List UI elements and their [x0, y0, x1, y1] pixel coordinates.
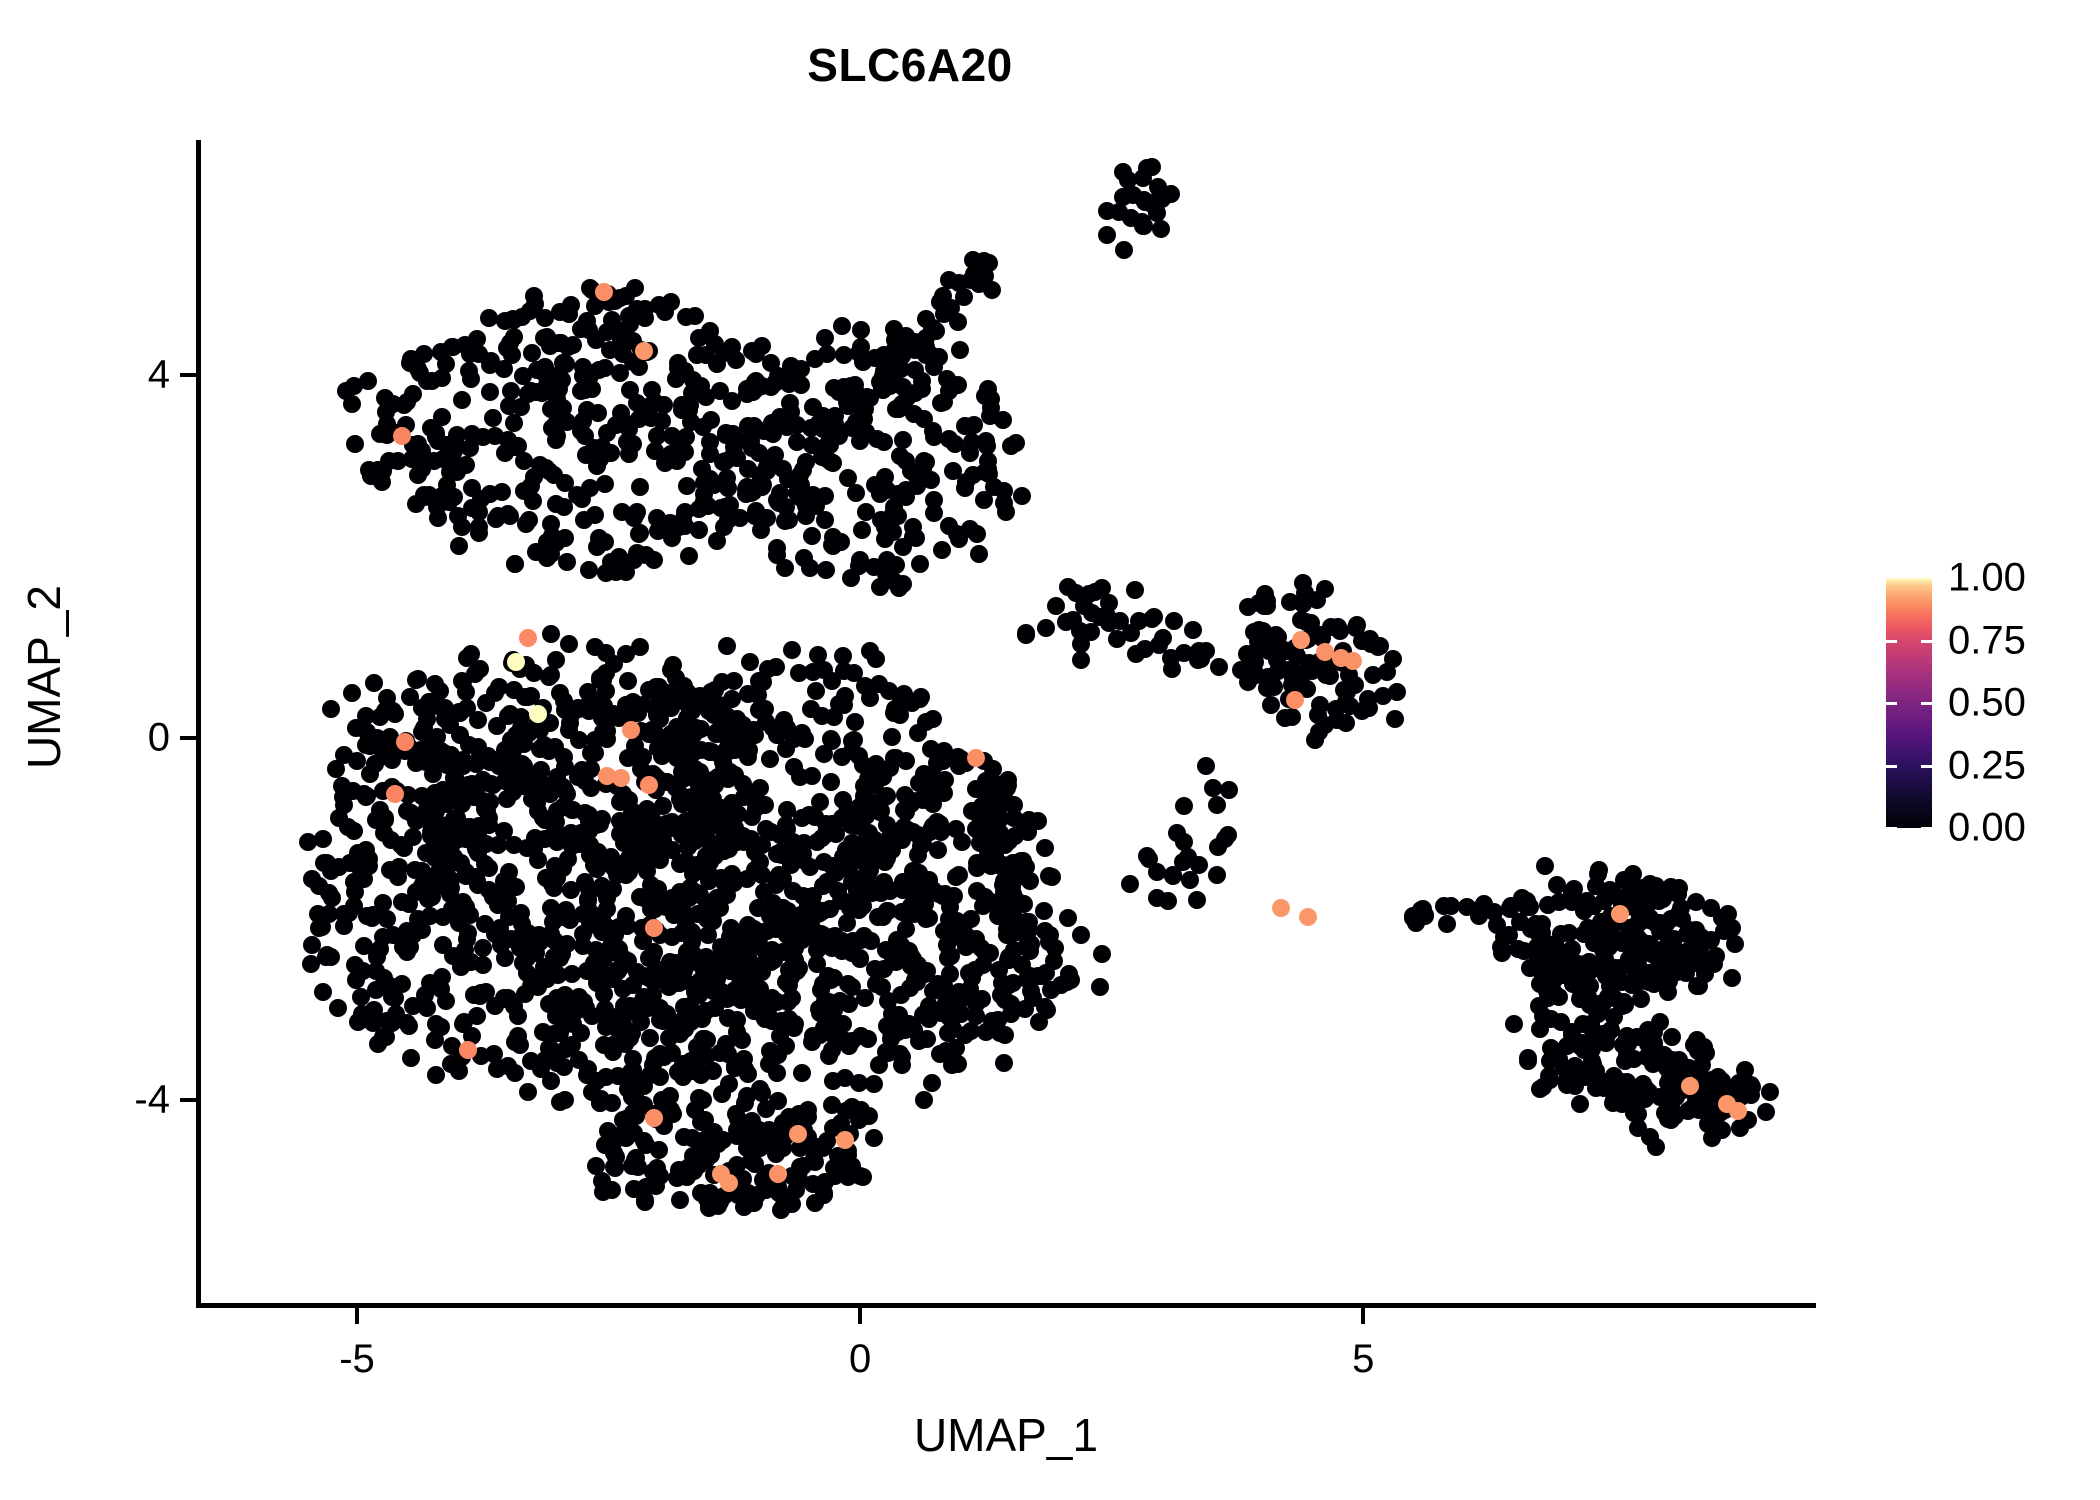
scatter-point — [426, 675, 444, 693]
scatter-point — [651, 1045, 669, 1063]
scatter-point — [1148, 863, 1166, 881]
scatter-point — [631, 524, 649, 542]
scatter-point — [1262, 696, 1280, 714]
scatter-point — [432, 343, 450, 361]
scatter-point — [573, 490, 591, 508]
scatter-point — [1040, 867, 1058, 885]
scatter-point — [1680, 921, 1698, 939]
scatter-point — [975, 491, 993, 509]
scatter-point — [807, 682, 825, 700]
scatter-point — [1119, 171, 1137, 189]
scatter-point — [1687, 893, 1705, 911]
scatter-point — [469, 844, 487, 862]
scatter-point — [1606, 932, 1624, 950]
scatter-point — [849, 799, 867, 817]
scatter-point — [876, 518, 894, 536]
scatter-point — [735, 1198, 753, 1216]
scatter-point — [557, 901, 575, 919]
scatter-point — [700, 872, 718, 890]
scatter-point — [995, 1054, 1013, 1072]
scatter-point — [550, 380, 568, 398]
scatter-point — [1286, 691, 1304, 709]
scatter-point — [1581, 977, 1599, 995]
y-axis-tick-label: -4 — [134, 1077, 170, 1122]
scatter-point — [1633, 1084, 1651, 1102]
scatter-point — [701, 818, 719, 836]
scatter-point — [978, 822, 996, 840]
scatter-point — [850, 901, 868, 919]
scatter-point — [868, 430, 886, 448]
scatter-point — [1175, 797, 1193, 815]
scatter-point — [723, 794, 741, 812]
scatter-point — [671, 973, 689, 991]
scatter-point — [1004, 885, 1022, 903]
scatter-point — [1692, 1097, 1710, 1115]
scatter-point — [855, 927, 873, 945]
scatter-point — [843, 732, 861, 750]
y-axis-tick — [180, 1098, 196, 1102]
scatter-point — [743, 808, 761, 826]
scatter-point — [898, 389, 916, 407]
scatter-point — [980, 254, 998, 272]
scatter-point — [775, 711, 793, 729]
scatter-point — [790, 664, 808, 682]
scatter-point — [680, 547, 698, 565]
scatter-point — [359, 372, 377, 390]
scatter-point — [850, 344, 868, 362]
scatter-point — [822, 773, 840, 791]
scatter-point — [428, 728, 446, 746]
scatter-point — [735, 1050, 753, 1068]
scatter-point — [991, 1024, 1009, 1042]
scatter-point — [1505, 1015, 1523, 1033]
scatter-point — [961, 980, 979, 998]
scatter-point — [968, 882, 986, 900]
scatter-point — [555, 1058, 573, 1076]
scatter-point — [460, 362, 478, 380]
scatter-point — [1531, 1020, 1549, 1038]
scatter-point — [636, 1193, 654, 1211]
scatter-point — [361, 765, 379, 783]
scatter-point — [615, 834, 633, 852]
scatter-point — [1208, 796, 1226, 814]
scatter-point — [363, 909, 381, 927]
scatter-point — [1163, 660, 1181, 678]
scatter-point — [487, 510, 505, 528]
scatter-point — [1239, 598, 1257, 616]
scatter-point — [357, 736, 375, 754]
scatter-point — [643, 810, 661, 828]
scatter-point — [769, 1165, 787, 1183]
scatter-point — [1705, 955, 1723, 973]
scatter-point — [469, 711, 487, 729]
scatter-point — [1292, 631, 1310, 649]
scatter-point — [609, 1067, 627, 1085]
scatter-point — [923, 1074, 941, 1092]
scatter-point — [1249, 632, 1267, 650]
scatter-point — [727, 351, 745, 369]
scatter-point — [582, 760, 600, 778]
scatter-point — [774, 1139, 792, 1157]
scatter-point — [346, 435, 364, 453]
scatter-point — [450, 537, 468, 555]
scatter-point — [384, 926, 402, 944]
scatter-point — [1616, 996, 1634, 1014]
scatter-point — [1378, 663, 1396, 681]
scatter-point — [756, 700, 774, 718]
scatter-point — [322, 700, 340, 718]
scatter-point — [933, 541, 951, 559]
scatter-point — [816, 487, 834, 505]
scatter-point — [457, 683, 475, 701]
scatter-point — [481, 793, 499, 811]
scatter-point — [770, 1184, 788, 1202]
scatter-point — [834, 1160, 852, 1178]
scatter-point — [968, 525, 986, 543]
scatter-point — [865, 1129, 883, 1147]
scatter-point — [534, 1023, 552, 1041]
scatter-point — [733, 1031, 751, 1049]
scatter-point — [418, 372, 436, 390]
scatter-point — [713, 1085, 731, 1103]
scatter-point — [909, 846, 927, 864]
scatter-point — [1154, 629, 1172, 647]
scatter-point — [867, 650, 885, 668]
scatter-point — [1652, 885, 1670, 903]
scatter-point — [489, 896, 507, 914]
scatter-point — [1148, 889, 1166, 907]
scatter-point — [817, 815, 835, 833]
scatter-point — [793, 931, 811, 949]
scatter-point — [904, 950, 922, 968]
scatter-point — [673, 1013, 691, 1031]
scatter-point — [794, 461, 812, 479]
scatter-point — [1536, 857, 1554, 875]
scatter-point — [585, 439, 603, 457]
scatter-point — [632, 760, 650, 778]
scatter-point — [503, 346, 521, 364]
scatter-point — [1316, 580, 1334, 598]
scatter-point — [869, 908, 887, 926]
scatter-point — [1757, 1103, 1775, 1121]
scatter-point — [587, 941, 605, 959]
scatter-point — [400, 1017, 418, 1035]
scatter-point — [922, 471, 940, 489]
scatter-point — [404, 828, 422, 846]
scatter-point — [459, 1041, 477, 1059]
scatter-point — [627, 1149, 645, 1167]
scatter-point — [299, 833, 317, 851]
scatter-point — [474, 771, 492, 789]
scatter-point — [911, 555, 929, 573]
scatter-point — [558, 553, 576, 571]
scatter-point — [1168, 824, 1186, 842]
scatter-point — [820, 993, 838, 1011]
scatter-point — [861, 689, 879, 707]
scatter-point — [542, 1072, 560, 1090]
scatter-point — [610, 940, 628, 958]
scatter-point — [911, 339, 929, 357]
scatter-point — [365, 674, 383, 692]
scatter-point — [741, 653, 759, 671]
scatter-point — [333, 777, 351, 795]
scatter-point — [1613, 973, 1631, 991]
scatter-point — [614, 785, 632, 803]
scatter-point — [1265, 678, 1283, 696]
scatter-point — [757, 1100, 775, 1118]
colorbar-tick-label: 0.00 — [1948, 806, 2026, 851]
scatter-point — [572, 1024, 590, 1042]
scatter-point — [779, 993, 797, 1011]
scatter-point — [903, 694, 921, 712]
scatter-point — [593, 877, 611, 895]
scatter-point — [874, 768, 892, 786]
scatter-point — [835, 662, 853, 680]
scatter-point — [905, 405, 923, 423]
scatter-point — [897, 920, 915, 938]
scatter-point — [852, 321, 870, 339]
scatter-point — [1059, 909, 1077, 927]
scatter-point — [607, 563, 625, 581]
colorbar-tick — [1886, 827, 1932, 830]
scatter-point — [563, 965, 581, 983]
scatter-point — [924, 795, 942, 813]
scatter-point — [371, 801, 389, 819]
x-axis-tick-label: -5 — [339, 1337, 375, 1382]
scatter-point — [432, 980, 450, 998]
scatter-point — [650, 296, 668, 314]
scatter-point — [833, 317, 851, 335]
scatter-point — [1059, 578, 1077, 596]
scatter-point — [834, 791, 852, 809]
scatter-point — [1220, 781, 1238, 799]
scatter-point — [409, 466, 427, 484]
scatter-point — [1013, 487, 1031, 505]
scatter-point — [628, 503, 646, 521]
scatter-point — [846, 713, 864, 731]
scatter-point — [931, 815, 949, 833]
scatter-point — [803, 527, 821, 545]
scatter-point — [374, 894, 392, 912]
scatter-point — [979, 460, 997, 478]
scatter-point — [542, 625, 560, 643]
scatter-point — [556, 701, 574, 719]
scatter-point — [427, 1066, 445, 1084]
scatter-point — [537, 459, 555, 477]
scatter-point — [640, 776, 658, 794]
scatter-point — [615, 413, 633, 431]
scatter-point — [528, 794, 546, 812]
x-axis-tick — [355, 1308, 359, 1324]
scatter-point — [645, 919, 663, 937]
scatter-point — [365, 1001, 383, 1019]
scatter-point — [383, 1014, 401, 1032]
scatter-point — [950, 757, 968, 775]
scatter-point — [963, 433, 981, 451]
scatter-point — [1162, 185, 1180, 203]
scatter-point — [500, 863, 518, 881]
scatter-point — [758, 458, 776, 476]
scatter-point — [1723, 969, 1741, 987]
scatter-point — [1616, 1052, 1634, 1070]
scatter-point — [329, 999, 347, 1017]
scatter-point — [950, 530, 968, 548]
scatter-point — [468, 872, 486, 890]
scatter-point — [789, 1125, 807, 1143]
scatter-point — [986, 848, 1004, 866]
scatter-point — [427, 424, 445, 442]
scatter-point — [697, 1151, 715, 1169]
scatter-point — [1590, 861, 1608, 879]
scatter-point — [1098, 202, 1116, 220]
scatter-point — [369, 1035, 387, 1053]
scatter-point — [1488, 916, 1506, 934]
scatter-point — [360, 857, 378, 875]
color-legend[interactable]: 1.000.750.500.250.00 — [1886, 578, 2086, 828]
scatter-point — [693, 460, 711, 478]
scatter-point — [967, 749, 985, 767]
scatter-point — [345, 873, 363, 891]
scatter-point — [505, 414, 523, 432]
scatter-point — [806, 350, 824, 368]
scatter-point — [947, 1039, 965, 1057]
colorbar-tick-label: 1.00 — [1948, 556, 2026, 601]
scatter-point — [1386, 710, 1404, 728]
scatter-point — [492, 936, 510, 954]
scatter-point — [1611, 905, 1629, 923]
scatter-point — [386, 785, 404, 803]
scatter-point — [340, 904, 358, 922]
scatter-point — [802, 700, 820, 718]
scatter-point — [895, 801, 913, 819]
scatter-point — [628, 394, 646, 412]
scatter-point — [894, 881, 912, 899]
scatter-point — [800, 806, 818, 824]
scatter-point — [816, 511, 834, 529]
scatter-point — [1539, 896, 1557, 914]
scatter-point — [937, 994, 955, 1012]
scatter-point — [469, 738, 487, 756]
scatter-point — [564, 336, 582, 354]
scatter-point — [616, 1124, 634, 1142]
scatter-point — [680, 401, 698, 419]
scatter-point — [995, 494, 1013, 512]
scatter-point — [465, 788, 483, 806]
scatter-point — [660, 741, 678, 759]
scatter-point — [918, 1030, 936, 1048]
scatter-point — [881, 377, 899, 395]
x-axis-tick-label: 0 — [849, 1337, 871, 1382]
scatter-point — [345, 822, 363, 840]
scatter-point — [718, 886, 736, 904]
scatter-point — [663, 427, 681, 445]
scatter-point — [322, 862, 340, 880]
scatter-point — [793, 1064, 811, 1082]
scatter-point — [894, 538, 912, 556]
scatter-point — [823, 1041, 841, 1059]
scatter-point — [1651, 914, 1669, 932]
scatter-point — [1029, 812, 1047, 830]
scatter-point — [893, 831, 911, 849]
scatter-point — [645, 551, 663, 569]
scatter-point — [588, 860, 606, 878]
scatter-point — [598, 424, 616, 442]
scatter-point — [1035, 902, 1053, 920]
scatter-point — [1669, 885, 1687, 903]
scatter-point — [853, 521, 871, 539]
scatter-point — [626, 279, 644, 297]
scatter-point — [517, 515, 535, 533]
colorbar-tick-label: 0.50 — [1948, 681, 2026, 726]
scatter-point — [865, 1075, 883, 1093]
x-axis-tick — [1361, 1308, 1365, 1324]
scatter-point — [512, 398, 530, 416]
scatter-point — [640, 969, 658, 987]
scatter-point — [443, 780, 461, 798]
scatter-point — [983, 281, 1001, 299]
scatter-point — [852, 1027, 870, 1045]
scatter-point — [593, 1172, 611, 1190]
scatter-point — [717, 1035, 735, 1053]
scatter-point — [1219, 826, 1237, 844]
scatter-point — [1629, 1105, 1647, 1123]
scatter-point — [409, 670, 427, 688]
scatter-point — [617, 645, 635, 663]
scatter-point — [303, 870, 321, 888]
scatter-point — [635, 342, 653, 360]
scatter-point — [538, 328, 556, 346]
scatter-point — [772, 1201, 790, 1219]
scatter-point — [925, 491, 943, 509]
scatter-point — [618, 917, 636, 935]
scatter-point — [777, 1037, 795, 1055]
scatter-point — [1571, 1095, 1589, 1113]
scatter-point — [780, 511, 798, 529]
scatter-point — [393, 975, 411, 993]
scatter-point — [1164, 867, 1182, 885]
scatter-point — [1347, 619, 1365, 637]
scatter-point — [1492, 938, 1510, 956]
scatter-point — [882, 348, 900, 366]
scatter-point — [373, 473, 391, 491]
scatter-point — [716, 498, 734, 516]
colorbar-tick — [1886, 765, 1932, 768]
scatter-point — [776, 559, 794, 577]
scatter-point — [1537, 941, 1555, 959]
scatter-point — [519, 1083, 537, 1101]
scatter-point — [929, 841, 947, 859]
scatter-point — [782, 412, 800, 430]
scatter-point — [603, 1094, 621, 1112]
scatter-point — [1122, 624, 1140, 642]
scatter-point — [1690, 977, 1708, 995]
scatter-point — [1519, 1052, 1537, 1070]
scatter-point — [917, 713, 935, 731]
scatter-point — [784, 882, 802, 900]
scatter-point — [586, 506, 604, 524]
scatter-point — [526, 829, 544, 847]
scatter-point — [777, 740, 795, 758]
scatter-point — [1258, 592, 1276, 610]
scatter-point — [648, 703, 666, 721]
scatter-point — [1080, 585, 1098, 603]
colorbar-tick — [1886, 640, 1932, 643]
scatter-point — [611, 812, 629, 830]
scatter-point — [470, 524, 488, 542]
scatter-point — [950, 928, 968, 946]
scatter-point — [1091, 978, 1109, 996]
scatter-point — [480, 309, 498, 327]
